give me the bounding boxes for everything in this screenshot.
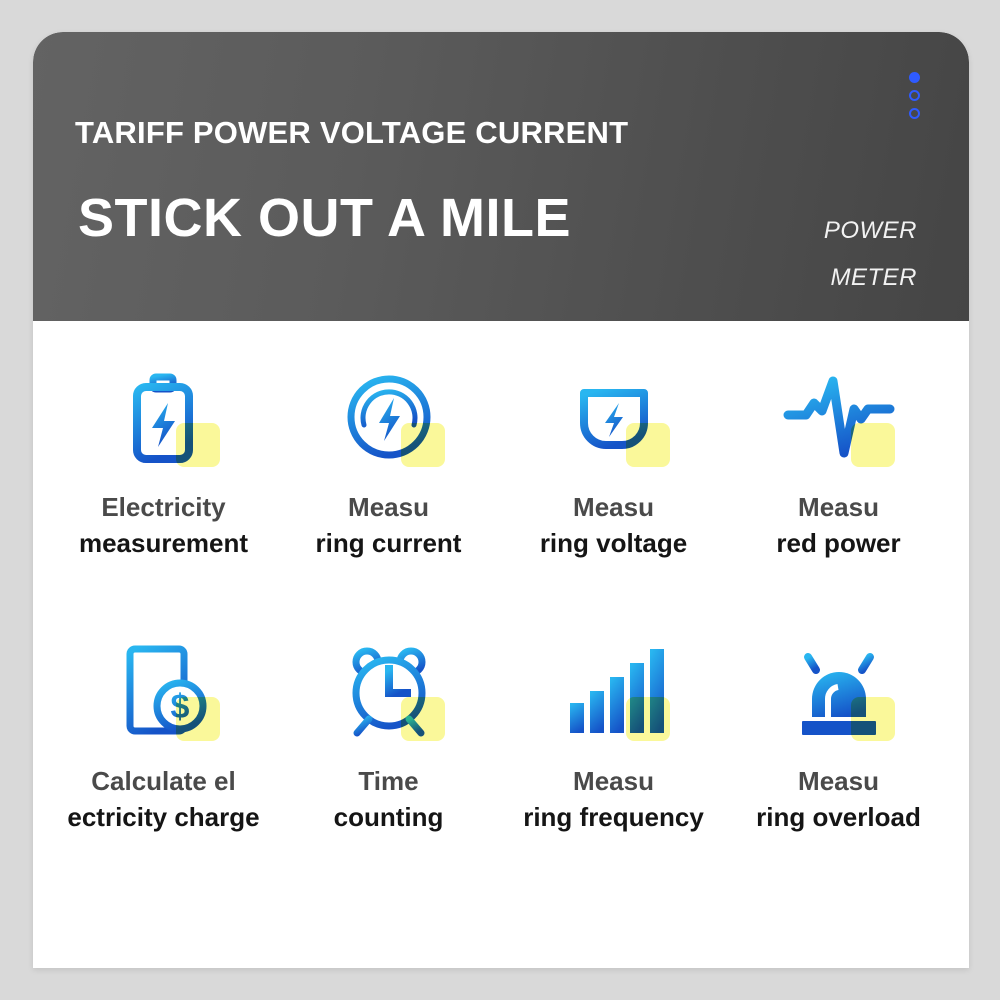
brand-line-2: METER xyxy=(824,254,917,301)
page-title: STICK OUT A MILE xyxy=(78,187,571,249)
accent-square xyxy=(851,697,895,741)
feature-label: Measu ring voltage xyxy=(540,489,687,561)
brand-line-1: POWER xyxy=(824,207,917,254)
status-dot-hollow-1[interactable] xyxy=(909,90,920,101)
product-feature-card: TARIFF POWER VOLTAGE CURRENT STICK OUT A… xyxy=(33,32,969,968)
feature-label-line1: Time xyxy=(334,763,444,799)
feature-label-line1: Measu xyxy=(756,763,921,799)
feature-label-line2: ring frequency xyxy=(523,799,704,835)
feature-label: Measu ring overload xyxy=(756,763,921,835)
feature-label-line1: Measu xyxy=(523,763,704,799)
feature-label-line1: Measu xyxy=(776,489,900,525)
feature-label: Electricity measurement xyxy=(79,489,248,561)
feature-item[interactable]: Measu ring frequency xyxy=(501,635,726,909)
header-kicker: TARIFF POWER VOLTAGE CURRENT xyxy=(75,115,628,151)
feature-label-line1: Measu xyxy=(316,489,462,525)
feature-grid: Electricity measurement xyxy=(33,321,969,968)
status-dot-hollow-2[interactable] xyxy=(909,108,920,119)
accent-square xyxy=(626,697,670,741)
feature-label-line2: counting xyxy=(334,799,444,835)
feature-label: Measu ring frequency xyxy=(523,763,704,835)
card-header: TARIFF POWER VOLTAGE CURRENT STICK OUT A… xyxy=(33,32,969,321)
feature-label: Time counting xyxy=(334,763,444,835)
feature-item[interactable]: Measu red power xyxy=(726,361,951,635)
siren-alarm-icon xyxy=(779,635,899,747)
accent-square xyxy=(401,697,445,741)
feature-label-line2: red power xyxy=(776,525,900,561)
feature-item[interactable]: Electricity measurement xyxy=(51,361,276,635)
feature-label: Measu red power xyxy=(776,489,900,561)
plug-bolt-icon xyxy=(554,361,674,473)
feature-item[interactable]: Measu ring overload xyxy=(726,635,951,909)
invoice-dollar-icon: $ xyxy=(104,635,224,747)
waveform-icon xyxy=(779,361,899,473)
feature-item[interactable]: $ Calculate el ectricity charge xyxy=(51,635,276,909)
feature-label-line2: ring current xyxy=(316,525,462,561)
accent-square xyxy=(401,423,445,467)
feature-label-line1: Calculate el xyxy=(67,763,259,799)
feature-item[interactable]: Time counting xyxy=(276,635,501,909)
circle-bolt-icon xyxy=(329,361,449,473)
feature-label: Calculate el ectricity charge xyxy=(67,763,259,835)
feature-label: Measu ring current xyxy=(316,489,462,561)
feature-label-line2: ectricity charge xyxy=(67,799,259,835)
brand-block: POWER METER xyxy=(824,207,917,301)
feature-label-line1: Measu xyxy=(540,489,687,525)
accent-square xyxy=(176,697,220,741)
feature-label-line2: ring overload xyxy=(756,799,921,835)
feature-item[interactable]: Measu ring current xyxy=(276,361,501,635)
accent-square xyxy=(626,423,670,467)
battery-bolt-icon xyxy=(104,361,224,473)
feature-label-line2: ring voltage xyxy=(540,525,687,561)
alarm-clock-icon xyxy=(329,635,449,747)
feature-label-line2: measurement xyxy=(79,525,248,561)
status-dot-filled[interactable] xyxy=(909,72,920,83)
accent-square xyxy=(851,423,895,467)
feature-label-line1: Electricity xyxy=(79,489,248,525)
accent-square xyxy=(176,423,220,467)
bar-chart-icon xyxy=(554,635,674,747)
status-dots[interactable] xyxy=(909,72,920,119)
feature-item[interactable]: Measu ring voltage xyxy=(501,361,726,635)
